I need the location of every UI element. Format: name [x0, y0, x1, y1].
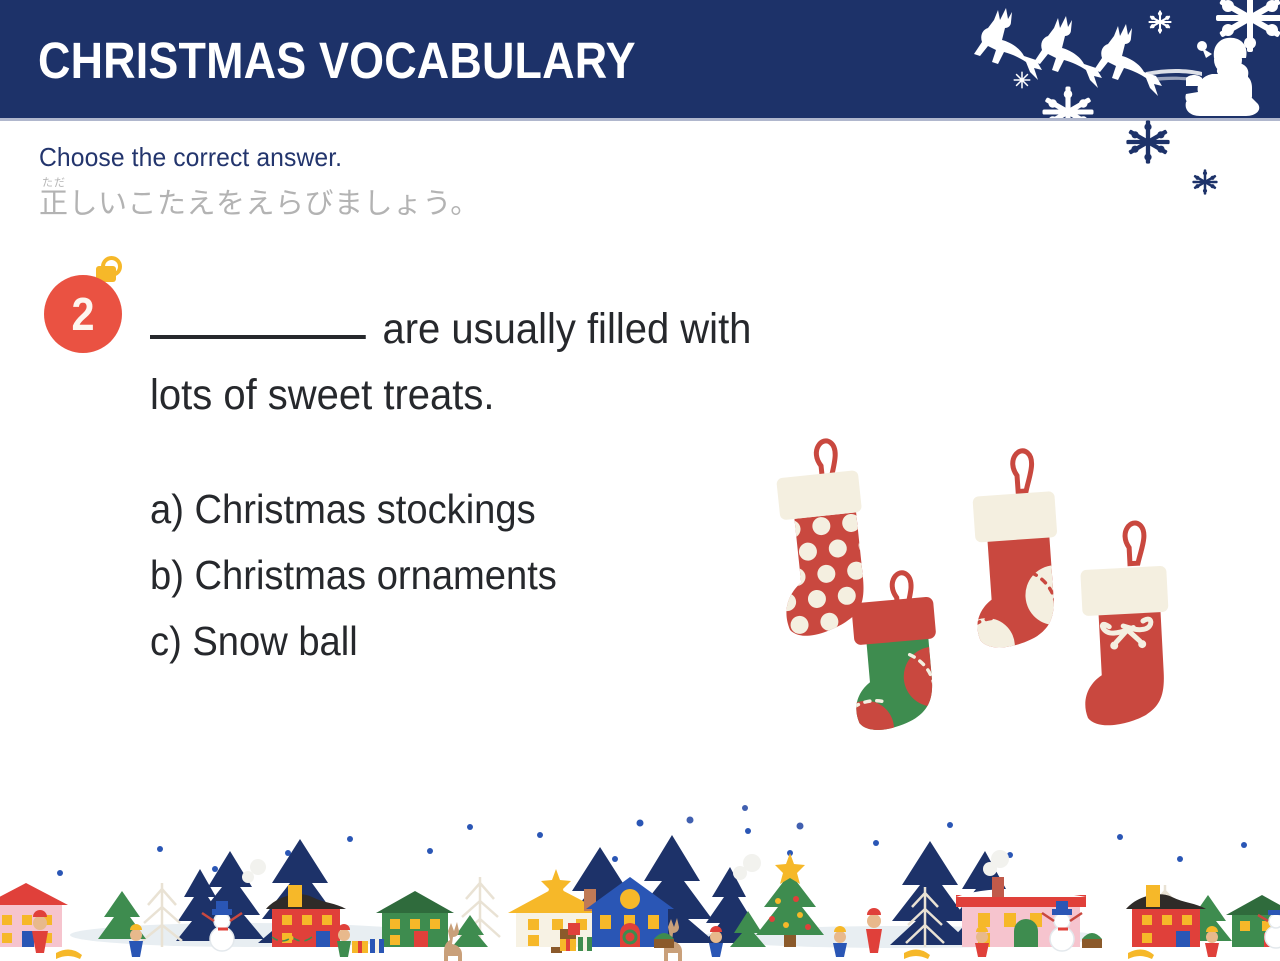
- instruction-japanese: 正しいこたえをえらびましょう。: [39, 176, 480, 223]
- page-title: CHRISTMAS VOCABULARY: [38, 33, 636, 89]
- answer-option-a[interactable]: a) Christmas stockings: [150, 476, 557, 542]
- house-green-1: [376, 891, 454, 947]
- answer-blank: [150, 335, 366, 339]
- answer-text-a: Christmas stockings: [195, 486, 536, 532]
- stocking-bow: [1076, 521, 1174, 726]
- question-number: 2: [48, 275, 118, 353]
- answer-text-b: Christmas ornaments: [195, 552, 557, 598]
- instruction-japanese-wrap: ただ 正しいこたえをえらびましょう。: [39, 176, 480, 223]
- answer-label-c: c): [150, 618, 182, 664]
- question-line-1: are usually filled with: [371, 305, 751, 353]
- question-line-2: lots of sweet treats.: [150, 371, 495, 419]
- santa-sleigh-icon: [950, 0, 1280, 118]
- slide-root: CHRISTMAS VOCABULARY: [0, 0, 1280, 961]
- slide-header: CHRISTMAS VOCABULARY: [0, 0, 1280, 118]
- answer-option-b[interactable]: b) Christmas ornaments: [150, 542, 557, 608]
- furigana-text: ただ: [42, 174, 66, 190]
- answer-text-c: Snow ball: [192, 618, 357, 664]
- question-number-badge: 2: [44, 275, 122, 353]
- header-divider: [0, 118, 1280, 121]
- question-text: are usually filled with lots of sweet tr…: [150, 296, 875, 428]
- christmas-tree: [756, 853, 824, 947]
- winter-village-border: [0, 811, 1280, 961]
- stocking-red-cream: [945, 447, 1090, 676]
- answer-label-b: b): [150, 552, 184, 598]
- answer-option-c[interactable]: c) Snow ball: [150, 608, 557, 674]
- header-snowflakes: [1014, 0, 1280, 118]
- gifts-2: [352, 939, 384, 953]
- instruction-english: Choose the correct answer.: [39, 142, 342, 173]
- answer-label-a: a): [150, 486, 184, 532]
- christmas-stockings-illustration: [745, 430, 1215, 760]
- answer-options: a) Christmas stockings b) Christmas orna…: [150, 476, 557, 674]
